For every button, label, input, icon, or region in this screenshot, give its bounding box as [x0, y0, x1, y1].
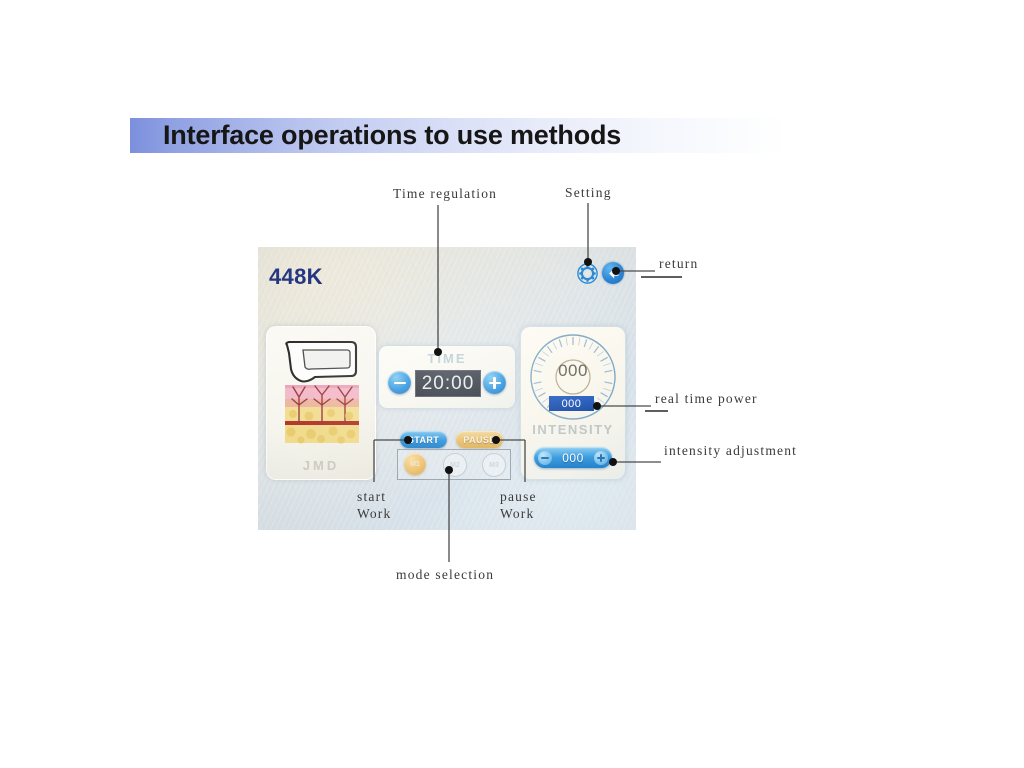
intensity-decrease-button[interactable]	[538, 451, 552, 465]
mode-button-m2[interactable]: M2	[443, 453, 467, 477]
annotation-setting: Setting	[565, 185, 612, 201]
time-increase-button[interactable]	[483, 371, 506, 394]
device-brand-label: 448K	[269, 264, 323, 290]
annotation-return: return	[659, 256, 698, 272]
minus-icon	[394, 377, 406, 389]
annotation-start-work-line1: start	[357, 488, 391, 505]
gauge-center-value: 000	[529, 361, 617, 381]
time-panel: TIME 20:00	[378, 345, 516, 409]
intensity-increase-button[interactable]	[594, 451, 608, 465]
annotation-mode-selection: mode selection	[396, 567, 494, 583]
pause-button[interactable]: PAUSE	[456, 431, 503, 448]
start-button[interactable]: START	[400, 431, 447, 448]
plus-icon	[489, 377, 501, 389]
annotation-real-time-power: real time power	[655, 391, 758, 407]
annotation-start-work-line2: Work	[357, 505, 391, 522]
mode-selection-group: M1 M2 M3	[397, 449, 511, 480]
arrow-left-icon	[606, 266, 621, 281]
skin-illustration-card: JMD	[266, 326, 376, 480]
return-icon[interactable]	[602, 262, 624, 284]
annotation-intensity-adjustment: intensity adjustment	[664, 443, 797, 459]
annotation-time-regulation: Time regulation	[393, 186, 497, 202]
device-screen: 448K	[258, 247, 636, 530]
real-time-power-display: 000	[549, 396, 594, 411]
annotation-pause-work-line1: pause	[500, 488, 537, 505]
page-title: Interface operations to use methods	[163, 120, 621, 151]
intensity-stepper[interactable]: 000	[534, 447, 612, 468]
annotation-pause-work-line2: Work	[500, 505, 537, 522]
time-value-display: 20:00	[415, 370, 481, 397]
settings-icon[interactable]	[576, 262, 598, 284]
intensity-panel: 000 000 INTENSITY 000	[520, 326, 626, 480]
time-panel-label: TIME	[379, 351, 515, 366]
annotation-pause-work: pause Work	[500, 488, 537, 522]
minus-icon	[541, 454, 549, 462]
intensity-panel-label: INTENSITY	[521, 422, 625, 437]
skin-cross-section-diagram	[281, 337, 363, 449]
annotation-start-work: start Work	[357, 488, 391, 522]
time-decrease-button[interactable]	[388, 371, 411, 394]
mode-button-m3[interactable]: M3	[482, 453, 506, 477]
mode-button-m1[interactable]: M1	[404, 453, 426, 475]
gear-icon	[577, 263, 598, 284]
plus-icon	[597, 454, 605, 462]
intensity-value-display: 000	[562, 451, 584, 465]
device-watermark: JMD	[267, 458, 375, 473]
